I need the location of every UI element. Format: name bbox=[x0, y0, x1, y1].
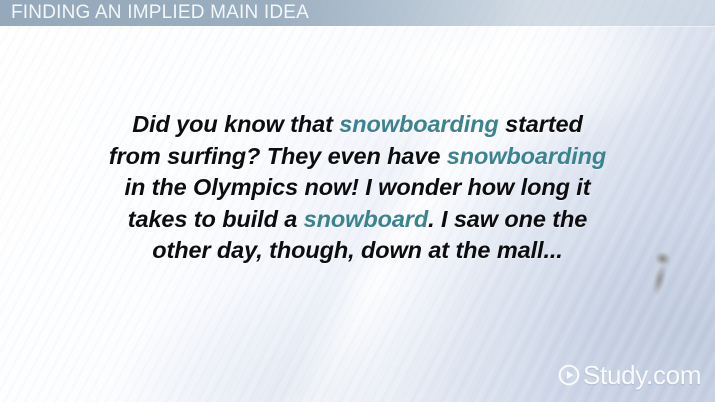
highlighted-keyword: snowboarding bbox=[447, 143, 606, 169]
page-title: FINDING AN IMPLIED MAIN IDEA bbox=[11, 0, 309, 25]
video-slide: FINDING AN IMPLIED MAIN IDEA Did you kno… bbox=[0, 0, 715, 402]
body-text-segment: in the Olympics now! I wonder how long i… bbox=[125, 174, 591, 200]
body-text-segment: from surfing? They even have bbox=[109, 143, 447, 169]
body-text-segment: started bbox=[499, 111, 583, 137]
body-paragraph: Did you know that snowboarding startedfr… bbox=[60, 109, 655, 267]
watermark-brand-text: Study.com bbox=[583, 361, 701, 389]
body-text-segment: other day, though, down at the mall... bbox=[152, 237, 563, 263]
body-line: in the Olympics now! I wonder how long i… bbox=[60, 172, 655, 204]
title-bar: FINDING AN IMPLIED MAIN IDEA bbox=[0, 0, 715, 26]
play-circle-icon bbox=[558, 364, 580, 386]
body-line: Did you know that snowboarding started bbox=[60, 109, 655, 141]
highlighted-keyword: snowboard bbox=[304, 206, 428, 232]
study-com-watermark: Study.com bbox=[558, 361, 701, 389]
body-text-segment: takes to build a bbox=[128, 206, 304, 232]
body-line: other day, though, down at the mall... bbox=[60, 235, 655, 267]
body-text-segment: . I saw one the bbox=[428, 206, 587, 232]
body-line: from surfing? They even have snowboardin… bbox=[60, 141, 655, 173]
highlighted-keyword: snowboarding bbox=[339, 111, 498, 137]
body-line: takes to build a snowboard. I saw one th… bbox=[60, 204, 655, 236]
body-text-segment: Did you know that bbox=[132, 111, 339, 137]
